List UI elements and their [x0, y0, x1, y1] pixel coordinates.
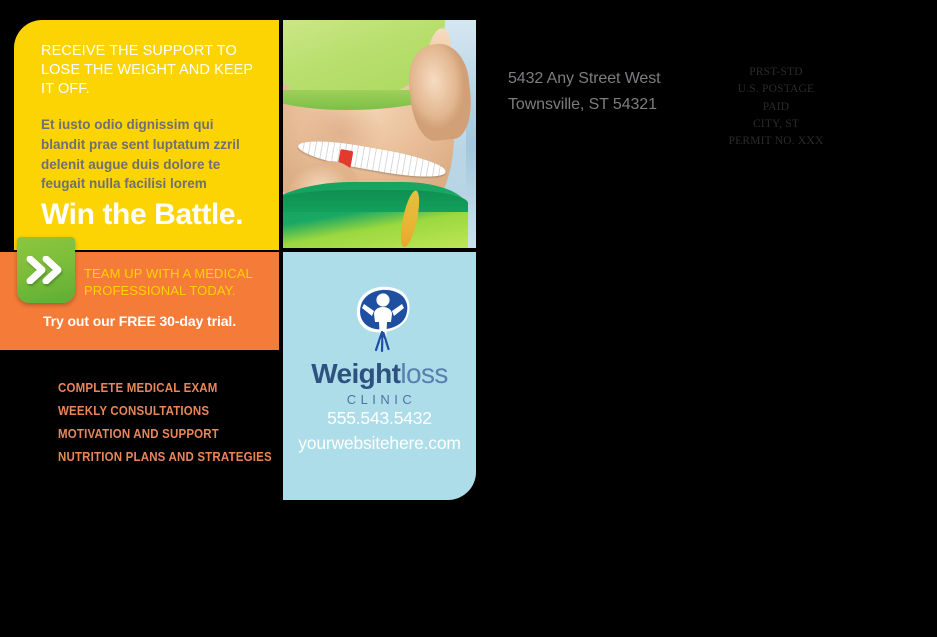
list-item: NUTRITION PLANS AND STRATEGIES — [58, 451, 265, 464]
green-chevron-badge — [17, 237, 75, 303]
wordmark: Weightloss — [311, 360, 448, 388]
list-item: WEEKLY CONSULTATIONS — [58, 405, 265, 418]
list-item: MOTIVATION AND SUPPORT — [58, 428, 265, 441]
phone-number[interactable]: 555.543.5432 — [283, 406, 476, 431]
indicia-line-4: CITY, ST — [714, 116, 838, 133]
indicia-line-1: PRST-STD — [714, 64, 838, 81]
list-item: COMPLETE MEDICAL EXAM — [58, 382, 265, 395]
indicia-line-5: PERMIT NO. XXX — [714, 133, 838, 150]
service-list: COMPLETE MEDICAL EXAM WEEKLY CONSULTATIO… — [58, 382, 283, 474]
wordmark-tagline: CLINIC — [343, 392, 417, 407]
team-up-text: TEAM UP WITH A MEDICAL PROFESSIONAL TODA… — [84, 266, 269, 300]
website-url[interactable]: yourwebsitehere.com — [283, 431, 476, 456]
blue-logo-panel: Weightloss CLINIC 555.543.5432 yourwebsi… — [283, 252, 476, 500]
weightloss-clinic-figure-logo — [342, 278, 418, 354]
free-trial-text: Try out our FREE 30-day trial. — [0, 313, 279, 329]
mailing-address: 5432 Any Street West Townsville, ST 5432… — [508, 66, 660, 118]
address-line-1: 5432 Any Street West — [508, 66, 660, 92]
indicia-line-3: PAID — [714, 99, 838, 116]
contact-block: 555.543.5432 yourwebsitehere.com — [283, 406, 476, 456]
postcard-canvas: RECEIVE THE SUPPORT TO LOSE THE WEIGHT A… — [0, 0, 937, 637]
kicker-text: RECEIVE THE SUPPORT TO LOSE THE WEIGHT A… — [41, 42, 255, 99]
logo-block: Weightloss CLINIC — [283, 278, 476, 407]
double-chevron-right-icon — [17, 237, 75, 303]
postal-permit-indicia: PRST-STD U.S. POSTAGE PAID CITY, ST PERM… — [714, 64, 838, 150]
body-copy: Et iusto odio dignissim qui blandit prae… — [41, 115, 255, 193]
yellow-headline-panel: RECEIVE THE SUPPORT TO LOSE THE WEIGHT A… — [14, 20, 279, 250]
fitness-photo — [283, 20, 476, 248]
wordmark-weight: Weight — [311, 358, 400, 389]
photo-pants-waistband — [283, 190, 468, 212]
address-line-2: Townsville, ST 54321 — [508, 92, 660, 118]
headline-win-the-battle: Win the Battle. — [41, 198, 243, 232]
wordmark-loss: loss — [400, 358, 447, 389]
indicia-line-2: U.S. POSTAGE — [714, 81, 838, 98]
